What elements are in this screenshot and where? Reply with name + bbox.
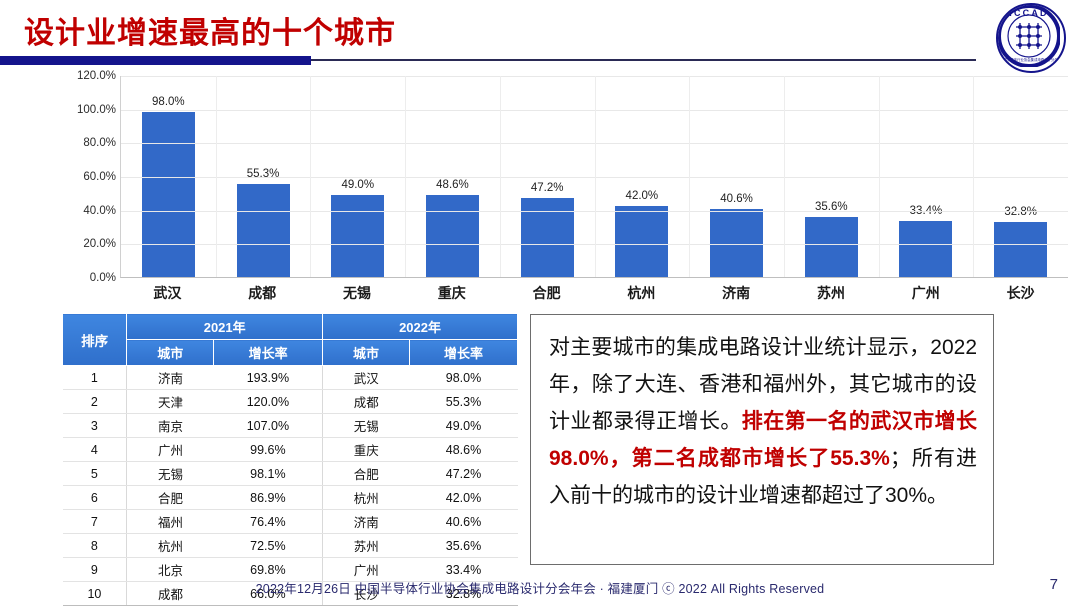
title-underline-bar	[0, 56, 311, 65]
cell-city-2021: 南京	[127, 414, 214, 438]
chart-category-divider	[405, 76, 406, 277]
chart-category-divider	[973, 76, 974, 277]
chart-bar[interactable]: 98.0%	[142, 112, 195, 277]
x-tick-label: 广州	[878, 280, 973, 306]
commentary-box: 对主要城市的集成电路设计业统计显示，2022年，除了大连、香港和福州外，其它城市…	[530, 314, 994, 565]
cell-city-2022: 重庆	[323, 438, 410, 462]
cell-rate-2022: 49.0%	[410, 414, 518, 438]
iccad-logo: ICCAD 中国半导体行业协会集成电路设计分会	[996, 3, 1066, 73]
chart-category-divider	[216, 76, 217, 277]
chart-bar[interactable]: 33.4%	[899, 221, 952, 277]
header-year-2022: 2022年	[323, 314, 518, 340]
cell-rate-2021: 86.9%	[214, 486, 323, 510]
chart-bar-value-label: 48.6%	[436, 179, 469, 191]
cell-rate-2021: 107.0%	[214, 414, 323, 438]
cell-rank: 8	[63, 534, 127, 558]
table-row: 2天津120.0%成都55.3%	[63, 390, 518, 414]
chart-bar-value-label: 55.3%	[247, 168, 280, 180]
y-tick-label: 120.0%	[77, 70, 116, 82]
x-tick-label: 长沙	[973, 280, 1068, 306]
cell-rate-2022: 48.6%	[410, 438, 518, 462]
header-city-2021: 城市	[127, 340, 214, 366]
chart-bar-value-label: 47.2%	[531, 182, 564, 194]
cell-city-2021: 合肥	[127, 486, 214, 510]
chart-y-axis: 120.0%100.0%80.0%60.0%40.0%20.0%0.0%	[62, 76, 120, 278]
cell-city-2021: 无锡	[127, 462, 214, 486]
x-tick-label: 重庆	[404, 280, 499, 306]
chart-bar-value-label: 98.0%	[152, 96, 185, 108]
header-rate-2021: 增长率	[214, 340, 323, 366]
svg-text:ICCAD: ICCAD	[1009, 8, 1049, 18]
growth-ranking-table: 排序 2021年 2022年 城市 增长率 城市 增长率 1济南193.9%武汉…	[62, 313, 518, 606]
chart-bar[interactable]: 42.0%	[615, 206, 668, 277]
cell-rate-2021: 72.5%	[214, 534, 323, 558]
table-row: 4广州99.6%重庆48.6%	[63, 438, 518, 462]
y-tick-label: 80.0%	[83, 137, 116, 149]
cell-rate-2022: 98.0%	[410, 366, 518, 390]
table-header: 排序 2021年 2022年 城市 增长率 城市 增长率	[63, 314, 518, 366]
footer-copyright: 2022年12月26日 中国半导体行业协会集成电路设计分会年会 · 福建厦门 ⓒ…	[0, 578, 1080, 597]
x-tick-label: 合肥	[499, 280, 594, 306]
cell-rank: 6	[63, 486, 127, 510]
chart-plot-area: 98.0%55.3%49.0%48.6%47.2%42.0%40.6%35.6%…	[120, 76, 1068, 278]
table-row: 3南京107.0%无锡49.0%	[63, 414, 518, 438]
y-tick-label: 100.0%	[77, 104, 116, 116]
cell-rank: 2	[63, 390, 127, 414]
cell-city-2021: 福州	[127, 510, 214, 534]
chart-category-divider	[595, 76, 596, 277]
chart-bar[interactable]: 48.6%	[426, 195, 479, 277]
x-tick-label: 武汉	[120, 280, 215, 306]
chart-bar-value-label: 49.0%	[341, 179, 374, 191]
page-title: 设计业增速最高的十个城市	[24, 8, 396, 52]
cell-rate-2022: 42.0%	[410, 486, 518, 510]
cell-city-2021: 杭州	[127, 534, 214, 558]
chart-category-divider	[689, 76, 690, 277]
cell-rank: 7	[63, 510, 127, 534]
table-header-row-2: 城市 增长率 城市 增长率	[63, 340, 518, 366]
cell-rank: 1	[63, 366, 127, 390]
y-tick-label: 0.0%	[90, 272, 116, 284]
chart-bar[interactable]: 35.6%	[805, 217, 858, 277]
chart-bar[interactable]: 40.6%	[710, 209, 763, 277]
cell-rate-2022: 47.2%	[410, 462, 518, 486]
cell-rank: 3	[63, 414, 127, 438]
cell-city-2022: 武汉	[323, 366, 410, 390]
chart-bar[interactable]: 55.3%	[237, 184, 290, 277]
chart-bar-value-label: 40.6%	[720, 193, 753, 205]
chart-bar[interactable]: 49.0%	[331, 195, 384, 277]
svg-text:中国半导体行业协会集成电路设计分会: 中国半导体行业协会集成电路设计分会	[1000, 57, 1058, 62]
chart-bar[interactable]: 32.8%	[994, 222, 1047, 277]
cell-rank: 4	[63, 438, 127, 462]
chart-category-divider	[500, 76, 501, 277]
table-row: 1济南193.9%武汉98.0%	[63, 366, 518, 390]
cell-rate-2022: 35.6%	[410, 534, 518, 558]
cell-city-2022: 杭州	[323, 486, 410, 510]
x-tick-label: 杭州	[594, 280, 689, 306]
cell-city-2021: 济南	[127, 366, 214, 390]
header-rank: 排序	[63, 314, 127, 366]
commentary-text: 对主要城市的集成电路设计业统计显示，2022年，除了大连、香港和福州外，其它城市…	[549, 329, 977, 514]
cell-city-2021: 广州	[127, 438, 214, 462]
chart-bar[interactable]: 47.2%	[521, 198, 574, 277]
table-body: 1济南193.9%武汉98.0%2天津120.0%成都55.3%3南京107.0…	[63, 366, 518, 606]
growth-bar-chart: 120.0%100.0%80.0%60.0%40.0%20.0%0.0% 98.…	[62, 76, 1068, 306]
cell-city-2021: 天津	[127, 390, 214, 414]
table-header-row-1: 排序 2021年 2022年	[63, 314, 518, 340]
table-row: 6合肥86.9%杭州42.0%	[63, 486, 518, 510]
chart-category-divider	[784, 76, 785, 277]
table-row: 5无锡98.1%合肥47.2%	[63, 462, 518, 486]
cell-city-2022: 济南	[323, 510, 410, 534]
chart-bar-value-label: 42.0%	[626, 190, 659, 202]
chart-bar-value-label: 32.8%	[1004, 206, 1037, 218]
x-tick-label: 无锡	[310, 280, 405, 306]
cell-rate-2022: 55.3%	[410, 390, 518, 414]
cell-rate-2021: 99.6%	[214, 438, 323, 462]
x-tick-label: 济南	[689, 280, 784, 306]
y-tick-label: 20.0%	[83, 238, 116, 250]
cell-city-2022: 成都	[323, 390, 410, 414]
y-tick-label: 40.0%	[83, 205, 116, 217]
chart-x-axis: 武汉成都无锡重庆合肥杭州济南苏州广州长沙	[120, 280, 1068, 306]
cell-city-2022: 无锡	[323, 414, 410, 438]
header-city-2022: 城市	[323, 340, 410, 366]
cell-city-2022: 苏州	[323, 534, 410, 558]
cell-rate-2021: 76.4%	[214, 510, 323, 534]
cell-city-2022: 合肥	[323, 462, 410, 486]
x-tick-label: 成都	[215, 280, 310, 306]
cell-rate-2021: 98.1%	[214, 462, 323, 486]
cell-rate-2021: 120.0%	[214, 390, 323, 414]
iccad-logo-icon: ICCAD 中国半导体行业协会集成电路设计分会	[998, 5, 1060, 67]
table-row: 8杭州72.5%苏州35.6%	[63, 534, 518, 558]
table-row: 7福州76.4%济南40.6%	[63, 510, 518, 534]
cell-rate-2021: 193.9%	[214, 366, 323, 390]
title-underline-rule	[311, 59, 976, 61]
header-rate-2022: 增长率	[410, 340, 518, 366]
cell-rate-2022: 40.6%	[410, 510, 518, 534]
cell-rank: 5	[63, 462, 127, 486]
x-tick-label: 苏州	[784, 280, 879, 306]
chart-category-divider	[879, 76, 880, 277]
header-year-2021: 2021年	[127, 314, 323, 340]
chart-category-divider	[310, 76, 311, 277]
page-number: 7	[1050, 576, 1058, 593]
y-tick-label: 60.0%	[83, 171, 116, 183]
